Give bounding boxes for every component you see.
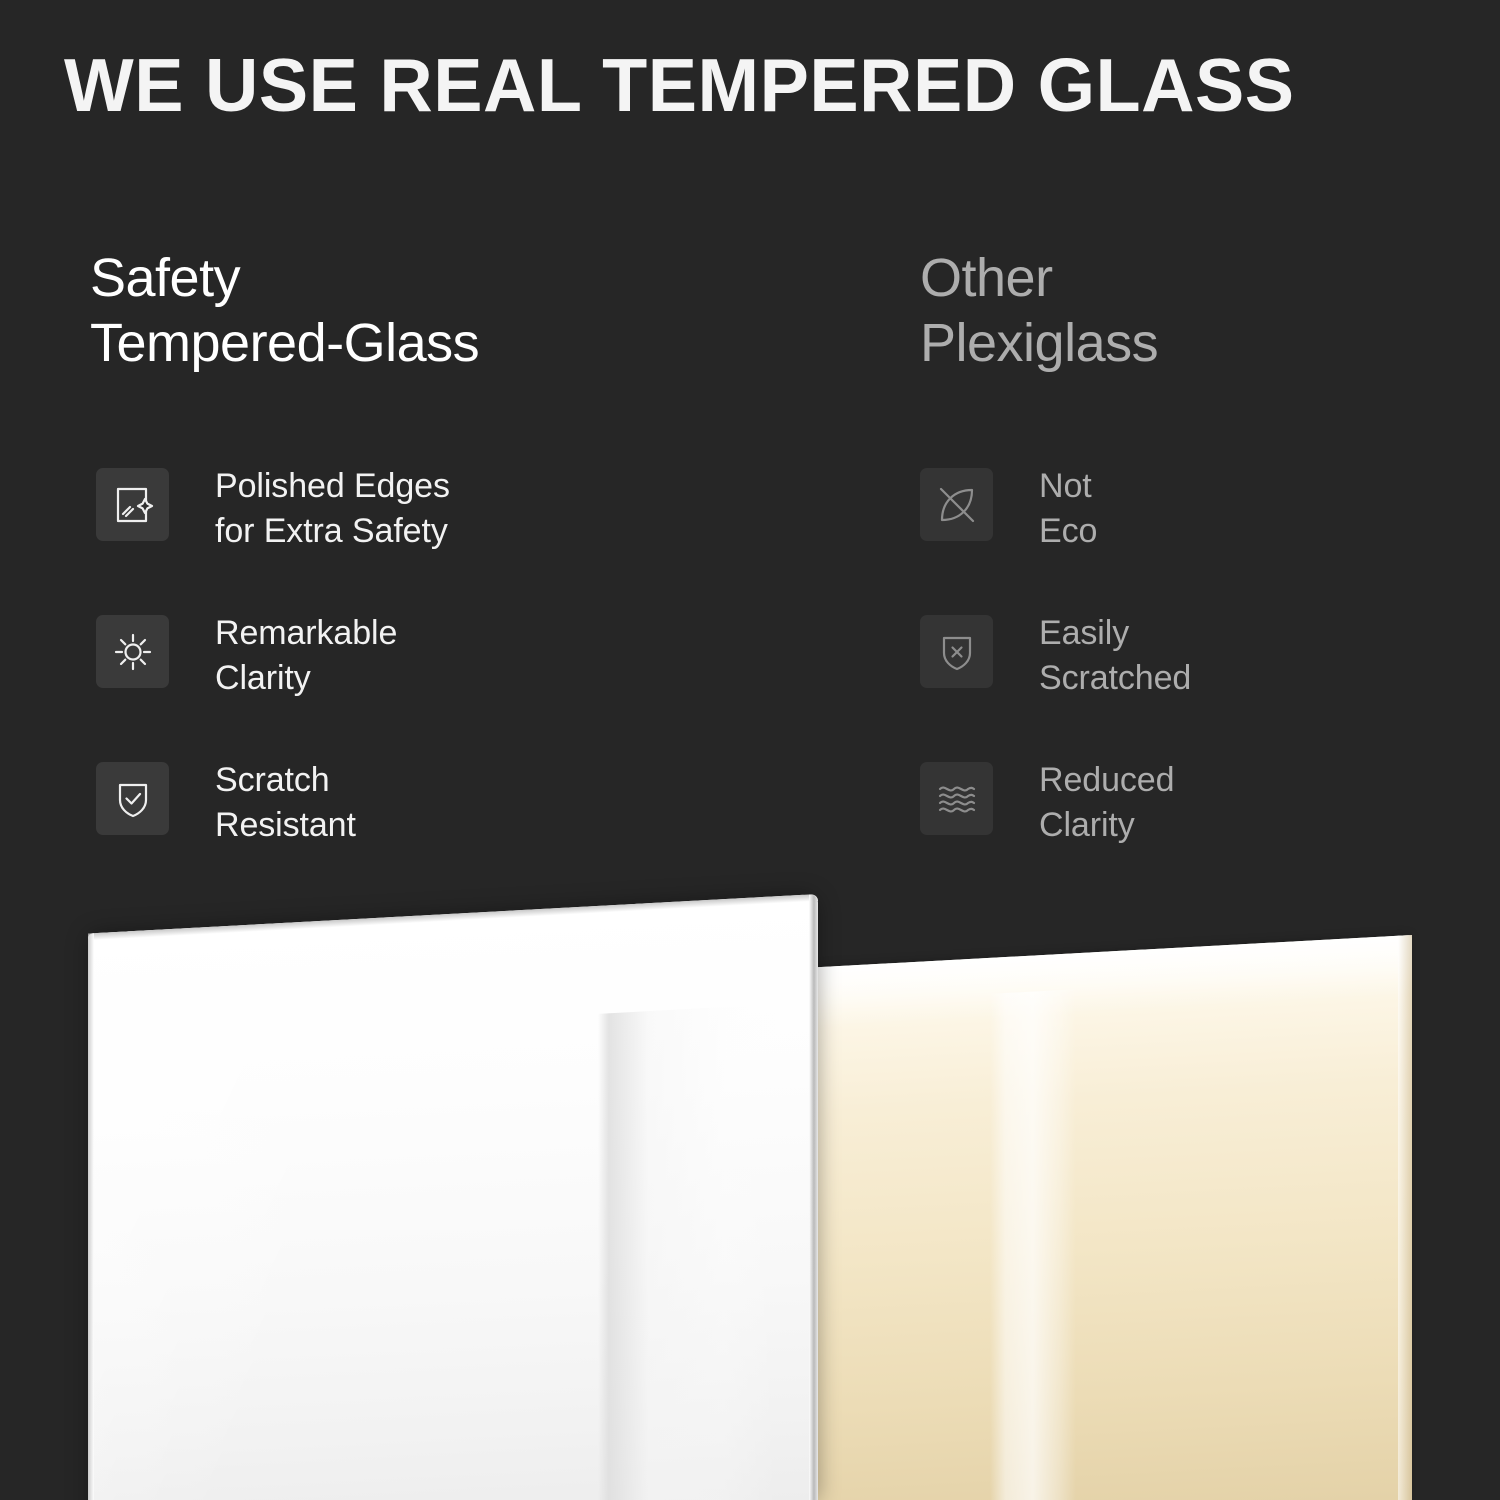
glass-left-bevel: [88, 933, 94, 1500]
plexi-top-glow: [812, 935, 1412, 1029]
glass-reflection: [598, 1004, 778, 1500]
glass-top-bevel: [88, 894, 818, 941]
feature-list-plexiglass: Not Eco Easily Scratched: [920, 468, 1191, 836]
feature-list-tempered-glass: Polished Edges for Extra Safety Remarkab…: [96, 468, 450, 836]
feature-polished-edges: Polished Edges for Extra Safety: [96, 468, 450, 542]
wavy-lines-icon: [920, 762, 993, 835]
feature-label-scratch-resistant: Scratch Resistant: [215, 758, 356, 848]
leaf-slashed-icon: [920, 468, 993, 541]
tempered-glass-panel: [88, 894, 818, 1500]
glass-soft-shade: [88, 894, 818, 1500]
page-title: WE USE REAL TEMPERED GLASS: [64, 42, 1423, 128]
feature-reduced-clarity: Reduced Clarity: [920, 762, 1191, 836]
feature-scratch-resistant: Scratch Resistant: [96, 762, 450, 836]
feature-label-not-eco: Not Eco: [1039, 464, 1097, 554]
feature-label-reduced-clarity: Reduced Clarity: [1039, 758, 1174, 848]
column-tempered-glass: Safety Tempered-Glass: [90, 246, 810, 376]
glass-right-bevel: [809, 894, 818, 1500]
column-plexiglass: Other Plexiglass: [920, 246, 1460, 376]
feature-label-remarkable-clarity: Remarkable Clarity: [215, 611, 397, 701]
shield-x-icon: [920, 615, 993, 688]
infographic-canvas: WE USE REAL TEMPERED GLASS Safety Temper…: [0, 0, 1500, 1500]
polished-glass-sparkle-icon: [96, 468, 169, 541]
plexi-right-edge: [1398, 935, 1412, 1500]
plexiglass-panel: [812, 935, 1412, 1500]
column-title-tempered-glass: Safety Tempered-Glass: [90, 246, 810, 376]
feature-label-easily-scratched: Easily Scratched: [1039, 611, 1191, 701]
feature-remarkable-clarity: Remarkable Clarity: [96, 615, 450, 689]
shield-check-icon: [96, 762, 169, 835]
feature-easily-scratched: Easily Scratched: [920, 615, 1191, 689]
product-panels-illustration: [0, 860, 1500, 1500]
plexi-vertical-sheen: [990, 989, 1076, 1500]
feature-not-eco: Not Eco: [920, 468, 1191, 542]
column-title-plexiglass: Other Plexiglass: [920, 246, 1460, 376]
sun-brightness-icon: [96, 615, 169, 688]
feature-label-polished-edges: Polished Edges for Extra Safety: [215, 464, 450, 554]
